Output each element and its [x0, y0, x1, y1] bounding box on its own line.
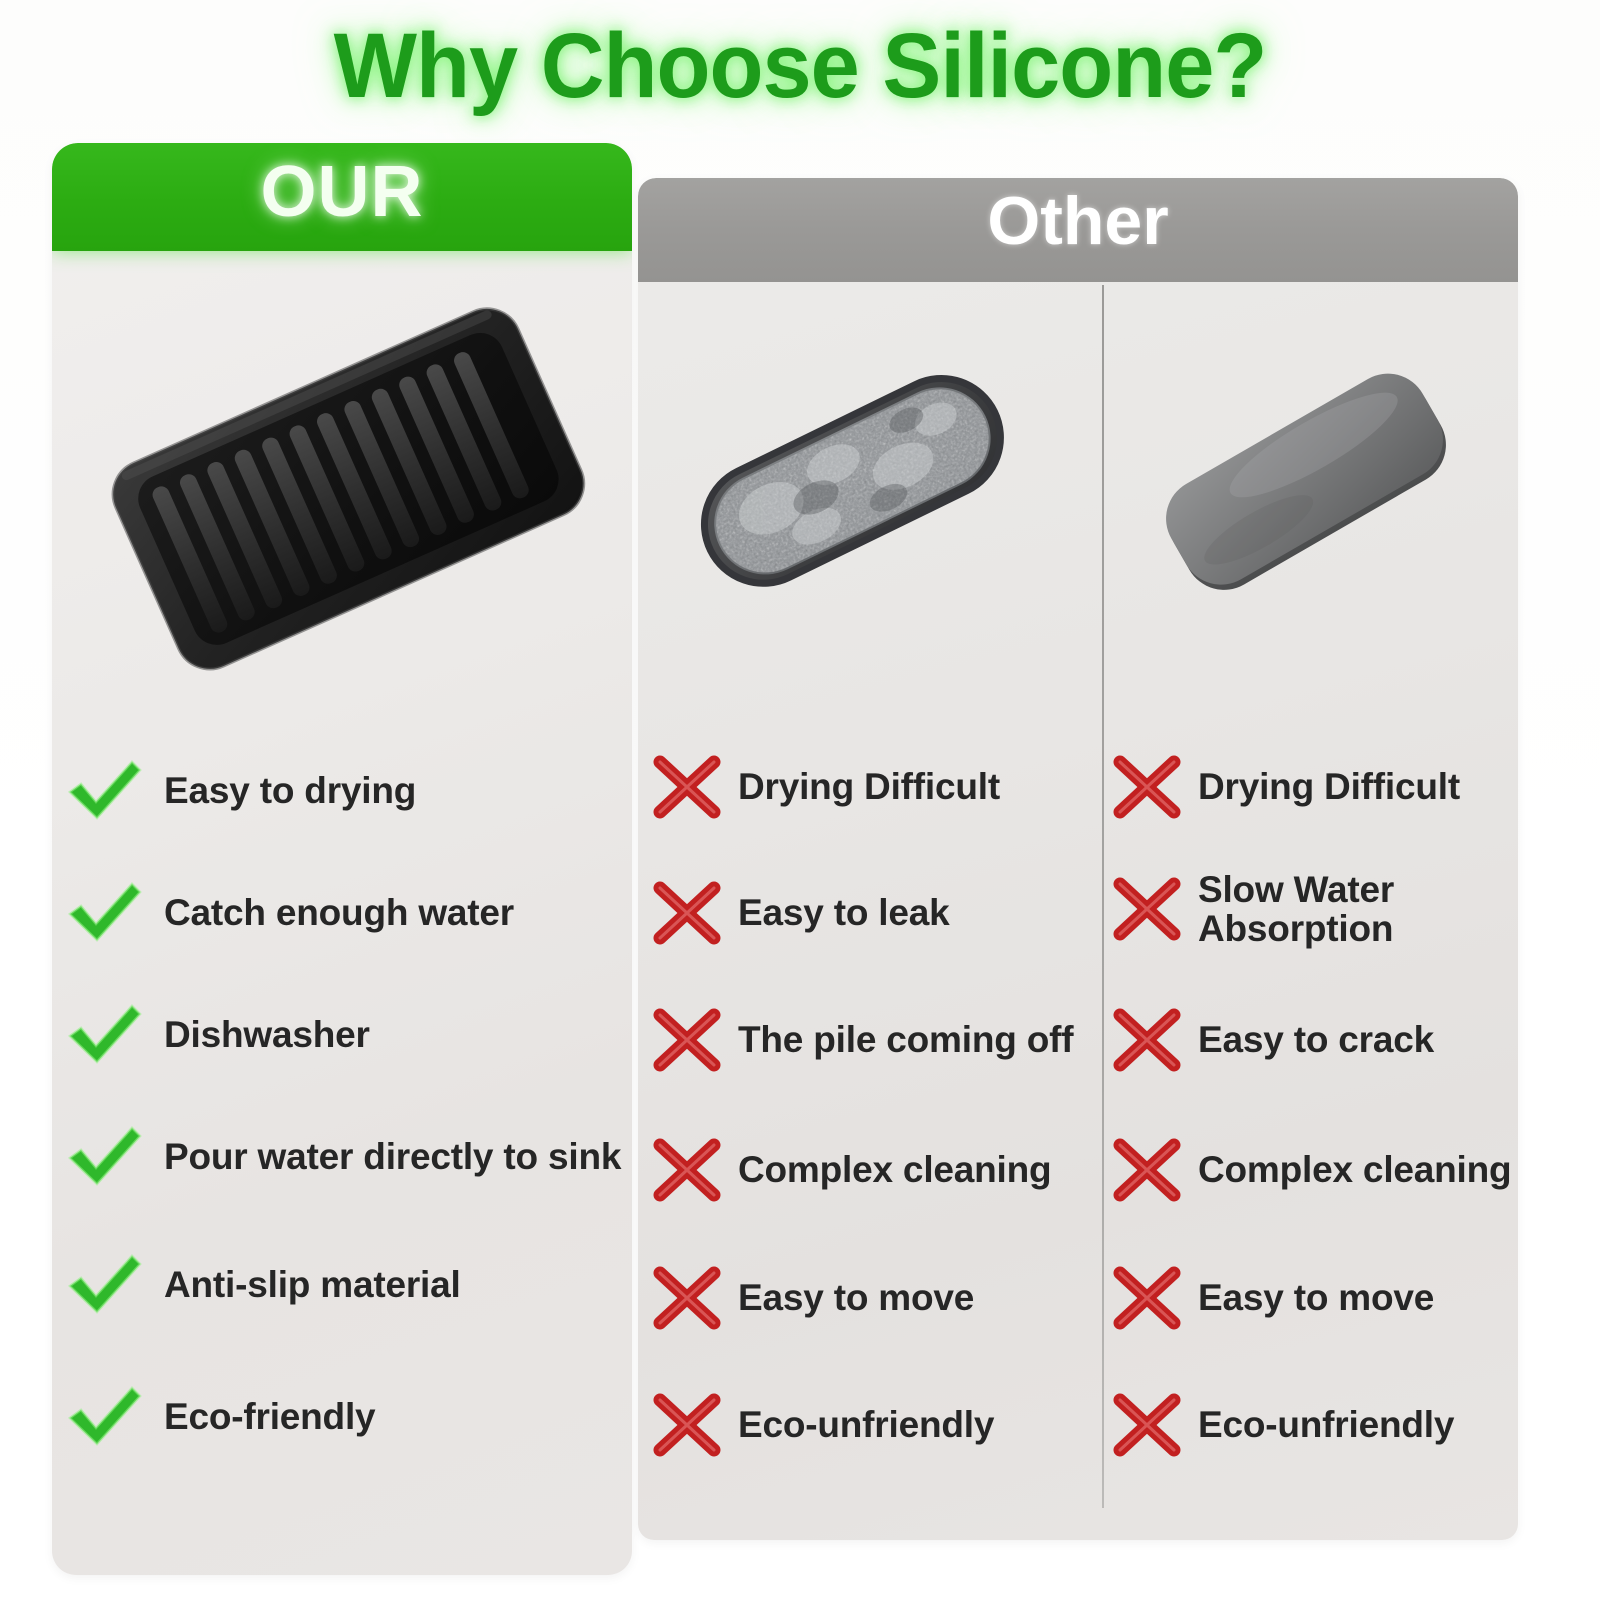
cross-icon	[650, 1005, 724, 1075]
list-item-label: Complex cleaning	[738, 1150, 1051, 1189]
list-item-label: The pile coming off	[738, 1020, 1073, 1059]
cross-icon	[1110, 752, 1184, 822]
list-item: Anti-slip material	[66, 1252, 626, 1318]
cross-icon	[1110, 1390, 1184, 1460]
check-icon	[66, 1002, 144, 1068]
list-item-label: Eco-unfriendly	[738, 1405, 994, 1444]
check-icon	[66, 1384, 144, 1450]
list-item: Complex cleaning	[650, 1135, 1090, 1205]
our-header-banner: OUR	[52, 143, 632, 251]
list-item: Easy to crack	[1110, 1005, 1560, 1075]
cross-icon	[650, 1390, 724, 1460]
list-item: Easy to drying	[66, 758, 626, 824]
list-item: Complex cleaning	[1110, 1135, 1560, 1205]
list-item-label: Eco-friendly	[164, 1397, 375, 1436]
black-silicone-drying-tray-image	[88, 268, 608, 708]
check-icon	[66, 758, 144, 824]
list-item: The pile coming off	[650, 1005, 1090, 1075]
list-item-label: Dishwasher	[164, 1015, 370, 1054]
list-item: Easy to move	[1110, 1263, 1560, 1333]
list-item-label: Eco-unfriendly	[1198, 1405, 1454, 1444]
cross-icon	[1110, 1263, 1184, 1333]
list-item-label: Slow Water Absorption	[1198, 870, 1394, 948]
list-item-label: Drying Difficult	[738, 767, 1000, 806]
list-item: Easy to move	[650, 1263, 1090, 1333]
list-item: Eco-friendly	[66, 1384, 626, 1450]
our-header-label: OUR	[52, 151, 632, 233]
other-header-banner: Other	[638, 178, 1518, 282]
list-item: Catch enough water	[66, 880, 626, 946]
check-icon	[66, 1252, 144, 1318]
list-item: Eco-unfriendly	[1110, 1390, 1560, 1460]
cross-icon	[1110, 874, 1184, 944]
list-item-label: Pour water directly to sink	[164, 1137, 621, 1176]
page-title: Why Choose Silicone?	[32, 14, 1568, 119]
list-item-label: Catch enough water	[164, 893, 514, 932]
check-icon	[66, 880, 144, 946]
list-item-label: Easy to move	[738, 1278, 974, 1317]
list-item-label: Easy to leak	[738, 893, 950, 932]
list-item-label: Easy to drying	[164, 771, 416, 810]
column-divider	[1102, 285, 1104, 1508]
list-item-label: Drying Difficult	[1198, 767, 1460, 806]
check-icon	[66, 1124, 144, 1190]
list-item-label: Complex cleaning	[1198, 1150, 1511, 1189]
list-item-label: Anti-slip material	[164, 1265, 461, 1304]
list-item: Easy to leak	[650, 878, 1090, 948]
list-item-label: Easy to crack	[1198, 1020, 1434, 1059]
cross-icon	[650, 1135, 724, 1205]
list-item: Pour water directly to sink	[66, 1124, 626, 1190]
cross-icon	[650, 752, 724, 822]
other-header-label: Other	[638, 182, 1518, 260]
gray-microfiber-drying-mat-image	[672, 330, 1032, 630]
cross-icon	[650, 1263, 724, 1333]
cross-icon	[1110, 1005, 1184, 1075]
list-item: Dishwasher	[66, 1002, 626, 1068]
list-item-label: Easy to move	[1198, 1278, 1434, 1317]
cross-icon	[650, 878, 724, 948]
list-item: Eco-unfriendly	[650, 1390, 1090, 1460]
list-item: Drying Difficult	[650, 752, 1090, 822]
list-item: Drying Difficult	[1110, 752, 1560, 822]
gray-diatomite-stone-pad-image	[1130, 330, 1480, 630]
list-item: Slow Water Absorption	[1110, 870, 1560, 948]
cross-icon	[1110, 1135, 1184, 1205]
